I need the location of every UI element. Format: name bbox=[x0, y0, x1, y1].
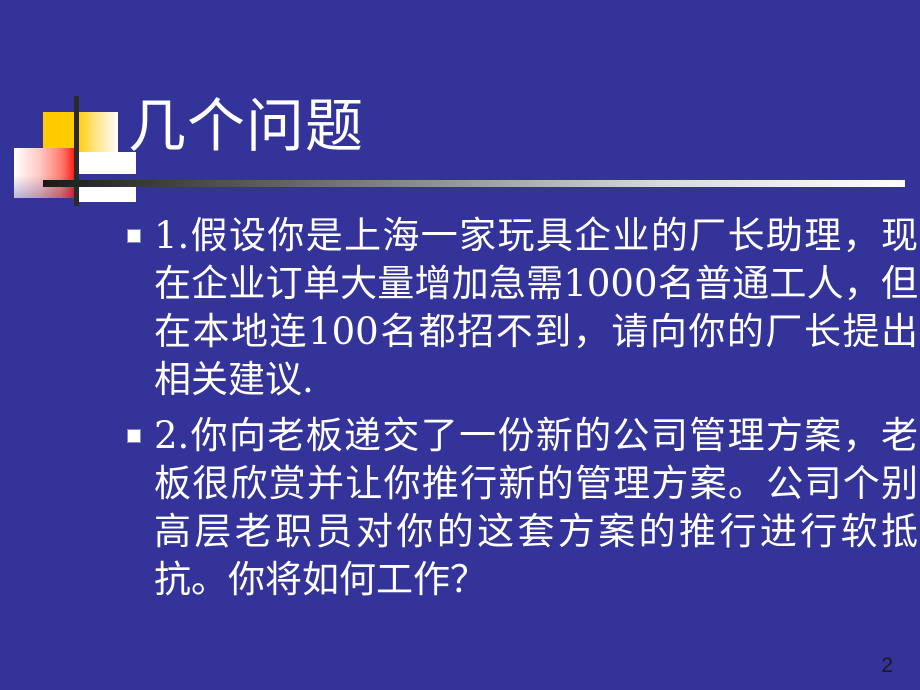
list-item: 2.你向老板递交了一份新的公司管理方案，老板很欣赏并让你推行新的管理方案。公司个… bbox=[128, 412, 918, 604]
page-number: 2 bbox=[881, 654, 893, 678]
horizontal-gradient-rule bbox=[43, 180, 905, 187]
red-gradient-square-fade bbox=[14, 148, 78, 198]
bullet-list: 1.假设你是上海一家玩具企业的厂长助理，现在企业订单大量增加急需1000名普通工… bbox=[128, 212, 918, 612]
list-item: 1.假设你是上海一家玩具企业的厂长助理，现在企业订单大量增加急需1000名普通工… bbox=[128, 212, 918, 404]
slide-title: 几个问题 bbox=[128, 90, 364, 162]
presentation-slide: 几个问题 1.假设你是上海一家玩具企业的厂长助理，现在企业订单大量增加急需100… bbox=[0, 0, 920, 690]
square-bullet-icon bbox=[128, 430, 140, 442]
list-item-text: 1.假设你是上海一家玩具企业的厂长助理，现在企业订单大量增加急需1000名普通工… bbox=[154, 212, 918, 404]
vertical-rule-decoration bbox=[74, 96, 79, 206]
list-item-text: 2.你向老板递交了一份新的公司管理方案，老板很欣赏并让你推行新的管理方案。公司个… bbox=[154, 412, 918, 604]
square-bullet-icon bbox=[128, 230, 140, 242]
